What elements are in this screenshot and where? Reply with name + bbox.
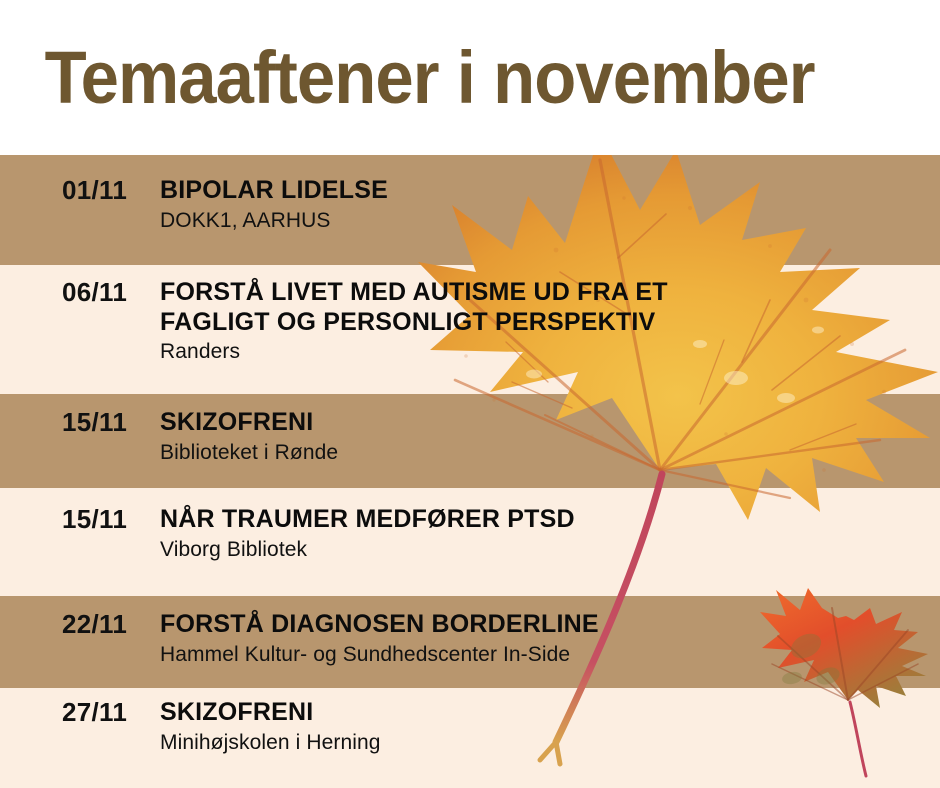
schedule-row[interactable]: 15/11NÅR TRAUMER MEDFØRER PTSDViborg Bib…: [0, 505, 940, 563]
schedule-row[interactable]: 27/11SKIZOFRENIMinihøjskolen i Herning: [0, 698, 940, 756]
event-date: 27/11: [0, 698, 160, 727]
schedule-row[interactable]: 15/11SKIZOFRENIBiblioteket i Rønde: [0, 408, 940, 466]
event-body: NÅR TRAUMER MEDFØRER PTSDViborg Bibliote…: [160, 505, 940, 563]
event-body: SKIZOFRENIMinihøjskolen i Herning: [160, 698, 940, 756]
event-title: BIPOLAR LIDELSE: [160, 176, 930, 206]
event-date: 01/11: [0, 176, 160, 205]
event-date: 06/11: [0, 278, 160, 307]
event-venue: Minihøjskolen i Herning: [160, 730, 930, 756]
event-title: FORSTÅ DIAGNOSEN BORDERLINE: [160, 610, 930, 640]
event-body: BIPOLAR LIDELSEDOKK1, AARHUS: [160, 176, 940, 234]
event-body: FORSTÅ LIVET MED AUTISME UD FRA ET FAGLI…: [160, 278, 940, 365]
page-title: Temaaftener i november: [0, 41, 815, 115]
event-date: 15/11: [0, 505, 160, 534]
event-body: FORSTÅ DIAGNOSEN BORDERLINEHammel Kultur…: [160, 610, 940, 668]
event-venue: Hammel Kultur- og Sundhedscenter In-Side: [160, 642, 930, 668]
schedule-row[interactable]: 01/11BIPOLAR LIDELSEDOKK1, AARHUS: [0, 176, 940, 234]
event-date: 22/11: [0, 610, 160, 639]
event-venue: Biblioteket i Rønde: [160, 440, 930, 466]
event-title: SKIZOFRENI: [160, 698, 930, 728]
event-date: 15/11: [0, 408, 160, 437]
event-title: FORSTÅ LIVET MED AUTISME UD FRA ET FAGLI…: [160, 278, 930, 337]
event-title: NÅR TRAUMER MEDFØRER PTSD: [160, 505, 930, 535]
event-body: SKIZOFRENIBiblioteket i Rønde: [160, 408, 940, 466]
event-venue: Randers: [160, 339, 930, 365]
poster-header: Temaaftener i november: [0, 0, 940, 155]
poster-canvas: Temaaftener i november 01/11BIPOLAR LIDE…: [0, 0, 940, 788]
event-venue: Viborg Bibliotek: [160, 537, 930, 563]
schedule-row[interactable]: 22/11FORSTÅ DIAGNOSEN BORDERLINEHammel K…: [0, 610, 940, 668]
schedule-row[interactable]: 06/11FORSTÅ LIVET MED AUTISME UD FRA ET …: [0, 278, 940, 365]
event-venue: DOKK1, AARHUS: [160, 208, 930, 234]
event-title: SKIZOFRENI: [160, 408, 930, 438]
